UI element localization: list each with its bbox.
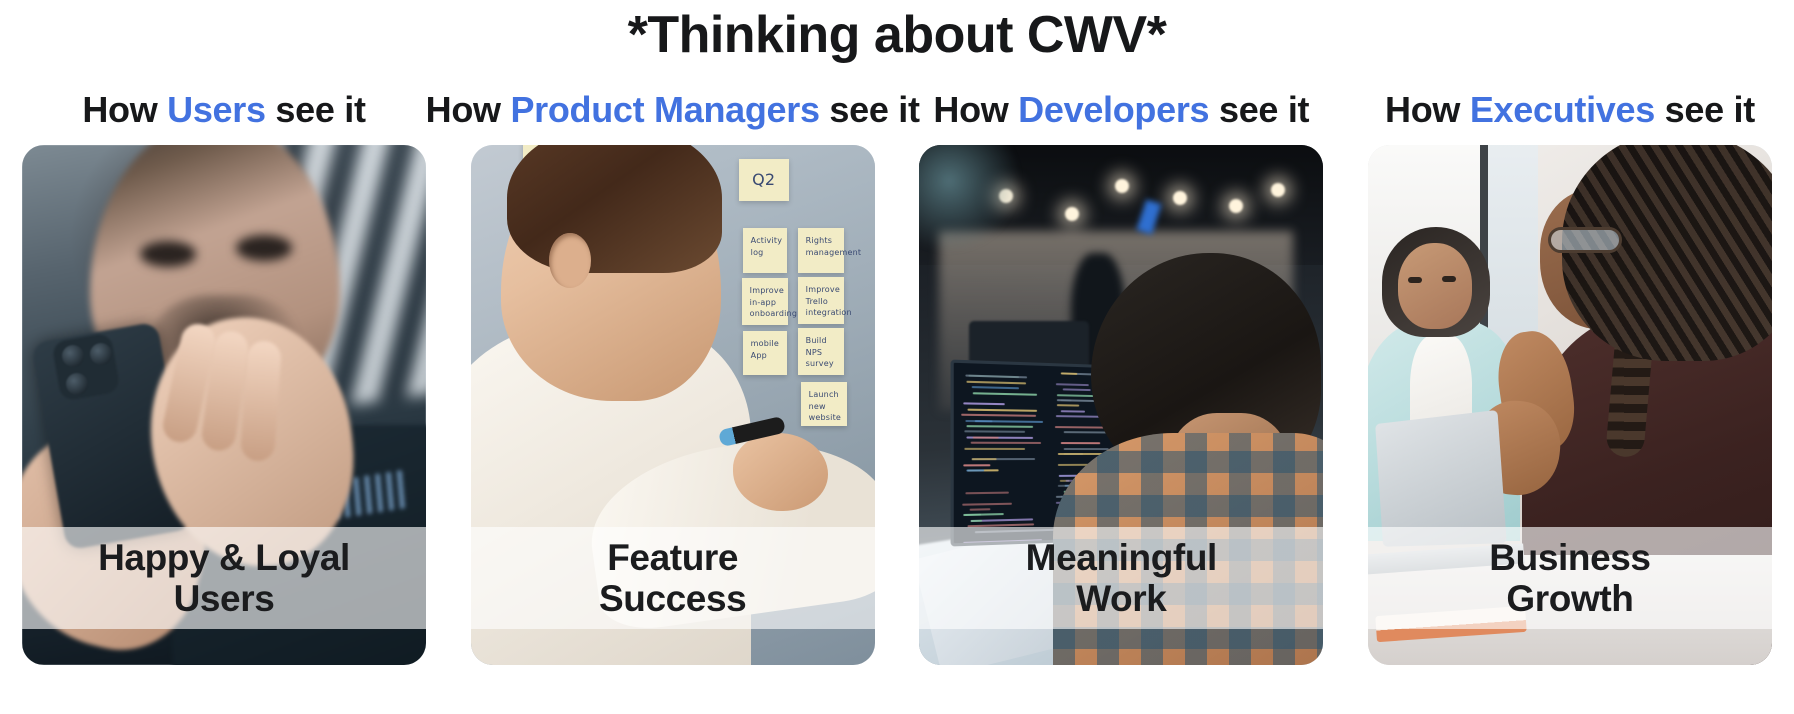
code-line: [1062, 372, 1078, 374]
persona-card-executives[interactable]: Business Growth: [1368, 145, 1772, 665]
camera-lens: [62, 345, 84, 367]
persona-column-users: How Users see it: [22, 88, 426, 665]
user-eye-left: [140, 241, 196, 267]
slide-root: *Thinking about CWV* How Users see it: [0, 0, 1794, 714]
heading-suffix: see it: [266, 89, 366, 130]
heading-role: Developers: [1018, 89, 1209, 130]
sticky-note-activity-log: Activity log: [743, 228, 787, 273]
card-caption-users: Happy & Loyal Users: [22, 527, 426, 629]
column-heading-executives: How Executives see it: [1385, 88, 1755, 131]
office-plant: [919, 145, 1021, 253]
executive-b-hair: [1562, 145, 1772, 361]
caption-line-1: Business: [1489, 537, 1650, 578]
executive-a-eye-left: [1408, 277, 1422, 283]
code-line: [966, 425, 1033, 428]
heading-prefix: How: [426, 89, 511, 130]
heading-suffix: see it: [1655, 89, 1755, 130]
caption-line-1: Feature: [607, 537, 738, 578]
code-line: [1057, 405, 1080, 407]
code-line: [965, 431, 1026, 434]
heading-prefix: How: [1385, 89, 1470, 130]
sticky-note-rights-management: Rights management: [798, 228, 844, 273]
user-eye-right: [236, 235, 292, 261]
code-line: [1064, 448, 1110, 450]
heading-suffix: see it: [1209, 89, 1309, 130]
pm-hand: [733, 433, 828, 511]
camera-lens: [90, 343, 112, 365]
glasses-icon: [1548, 227, 1622, 253]
persona-columns: How Users see it: [0, 88, 1794, 665]
code-line: [973, 392, 1038, 396]
code-line: [965, 420, 993, 422]
heading-role: Product Managers: [510, 89, 819, 130]
code-line: [969, 508, 991, 511]
sticky-note-website: Launch new website: [801, 382, 847, 426]
code-line: [962, 414, 1037, 417]
card-caption-executives: Business Growth: [1368, 527, 1772, 629]
persona-column-product-managers: How Product Managers see it Q2 Activity …: [471, 88, 875, 665]
code-line: [968, 408, 1038, 411]
heading-role: Users: [167, 89, 266, 130]
code-line: [973, 458, 998, 460]
sticky-note-mobile-app: mobile App: [743, 331, 787, 375]
phone-camera-module: [51, 332, 121, 402]
code-line: [965, 447, 1025, 449]
code-line: [1063, 389, 1091, 392]
code-line: [973, 436, 998, 438]
persona-card-product-managers[interactable]: Q2 Activity log Rights management Improv…: [471, 145, 875, 665]
code-line: [966, 470, 984, 472]
camera-lens: [66, 373, 88, 395]
pm-ear: [549, 233, 591, 288]
caption-line-1: Meaningful: [1026, 537, 1217, 578]
sticky-note-nps: Build NPS survey: [798, 328, 844, 375]
pm-hair: [507, 145, 722, 273]
caption-line-2: Users: [174, 578, 275, 619]
code-line: [963, 514, 981, 516]
code-line: [964, 403, 1005, 406]
persona-column-executives: How Executives see it: [1368, 88, 1772, 665]
sticky-note-q2: Q2: [739, 159, 789, 201]
caption-line-2: Success: [599, 578, 746, 619]
code-line: [966, 375, 1027, 379]
heading-suffix: see it: [820, 89, 920, 130]
column-heading-product-managers: How Product Managers see it: [426, 88, 920, 131]
code-line: [964, 464, 992, 466]
column-heading-developers: How Developers see it: [933, 88, 1309, 131]
code-line: [967, 381, 1026, 385]
code-line: [971, 519, 982, 521]
caption-line-2: Growth: [1506, 578, 1633, 619]
persona-card-developers[interactable]: Meaningful Work: [919, 145, 1323, 665]
executive-a-eye-right: [1442, 276, 1456, 282]
sticky-note-trello: Improve Trello integration: [798, 277, 844, 324]
column-heading-users: How Users see it: [82, 88, 365, 131]
code-line: [1061, 442, 1101, 444]
caption-line-2: Work: [1076, 578, 1166, 619]
persona-card-users[interactable]: Happy & Loyal Users: [22, 145, 426, 665]
code-line: [971, 442, 1042, 444]
heading-prefix: How: [82, 89, 167, 130]
persona-column-developers: How Developers see it: [919, 88, 1323, 665]
heading-role: Executives: [1470, 89, 1655, 130]
code-line: [962, 502, 1012, 505]
code-line: [1061, 410, 1086, 412]
code-line: [972, 386, 1019, 389]
executive-a-face: [1398, 243, 1472, 329]
caption-line-1: Happy & Loyal: [98, 537, 350, 578]
sticky-note-onboarding: Improve in-app onboarding: [742, 278, 788, 325]
card-caption-product-managers: Feature Success: [471, 527, 875, 629]
code-line: [966, 491, 1009, 494]
page-title: *Thinking about CWV*: [0, 0, 1794, 66]
heading-prefix: How: [933, 89, 1018, 130]
card-caption-developers: Meaningful Work: [919, 527, 1323, 629]
code-line: [1056, 383, 1089, 386]
